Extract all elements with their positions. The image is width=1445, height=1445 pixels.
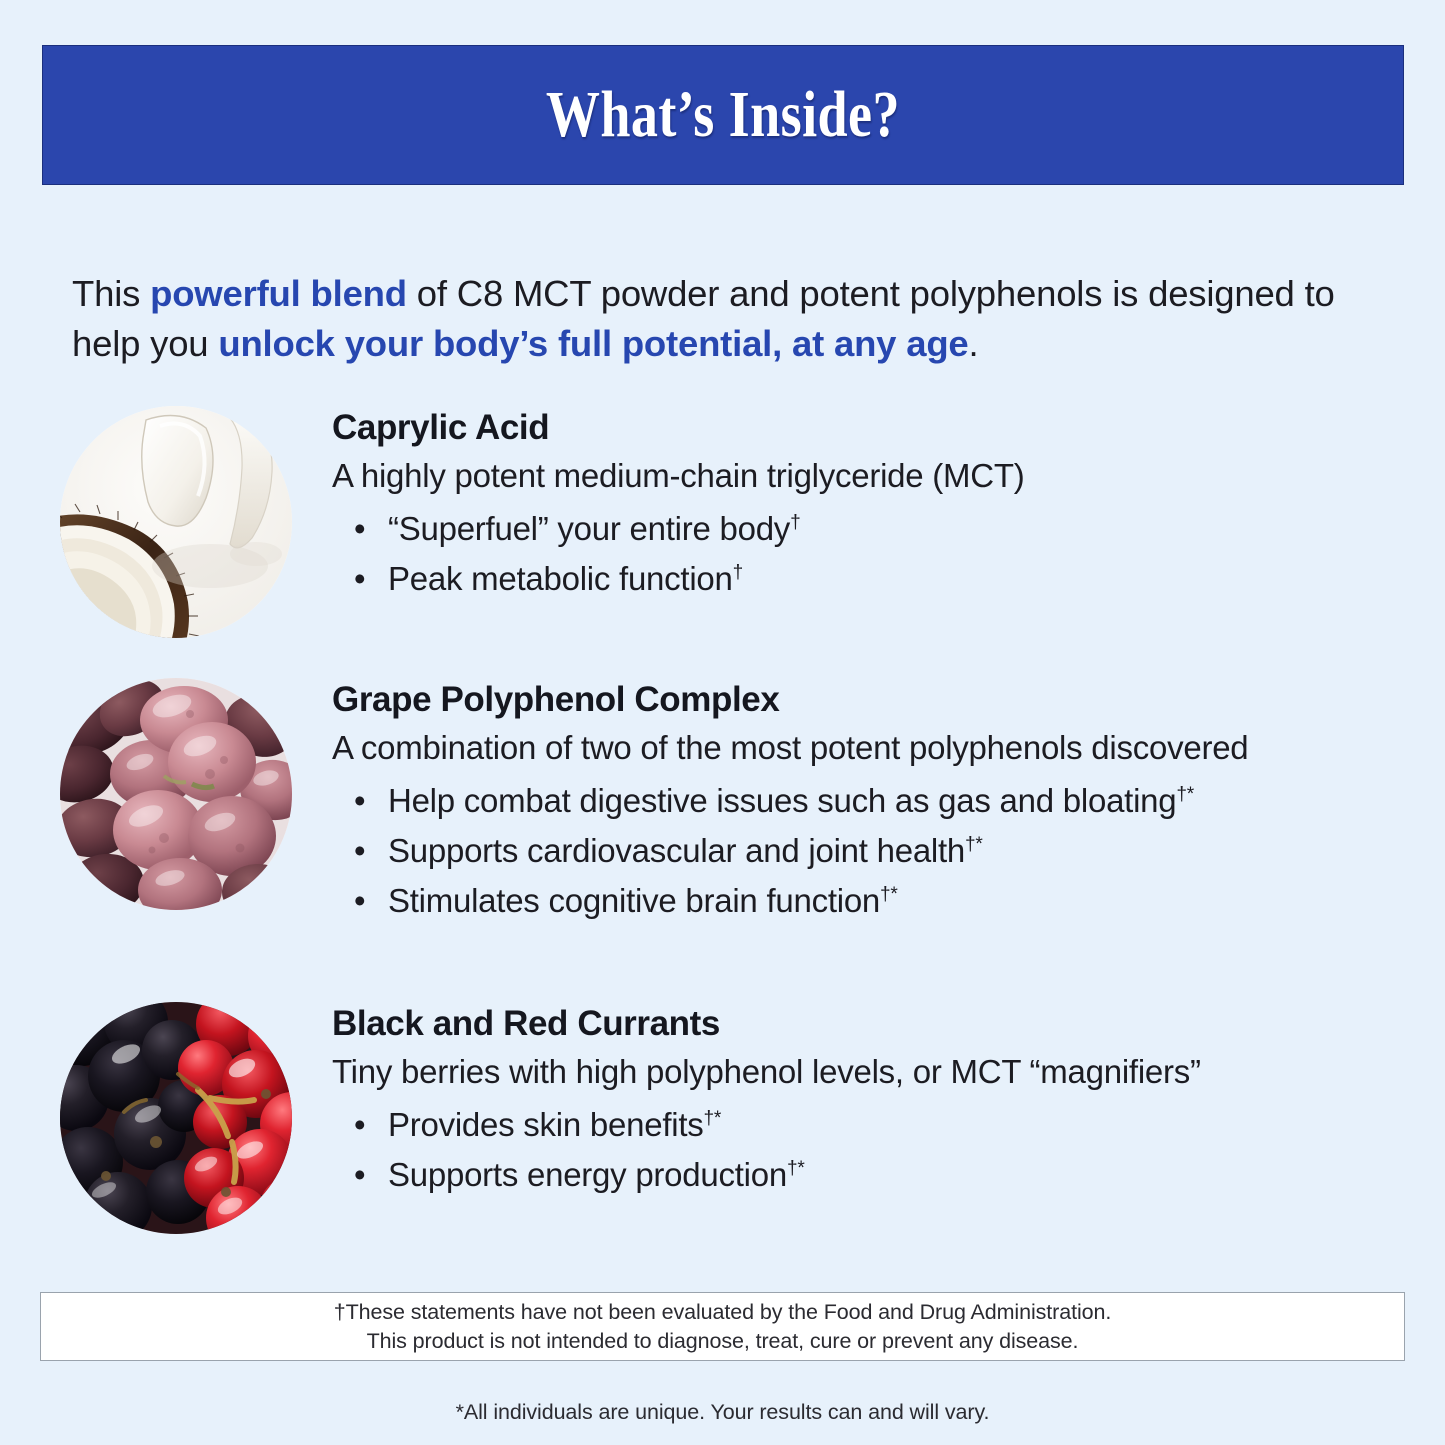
footnote-marker: †*: [704, 1108, 722, 1129]
list-item: •Supports cardiovascular and joint healt…: [332, 826, 1406, 876]
section-title: Caprylic Acid: [332, 406, 1406, 450]
bullet-icon: •: [354, 776, 365, 826]
footnote-marker: †: [733, 562, 743, 583]
intro-highlight-powerful-blend: powerful blend: [150, 273, 407, 314]
bullet-icon: •: [354, 1150, 365, 1200]
intro-text-part1: This: [72, 273, 150, 314]
list-item-label: Peak metabolic function: [388, 560, 733, 597]
section-body: Grape Polyphenol Complex A combination o…: [332, 678, 1406, 926]
footnote-marker: †*: [1176, 784, 1194, 805]
list-item: •“Superfuel” your entire body†: [332, 504, 1406, 554]
list-item-label: Stimulates cognitive brain function: [388, 882, 880, 919]
bullet-icon: •: [354, 554, 365, 604]
list-item-label: Help combat digestive issues such as gas…: [388, 782, 1176, 819]
section-title: Grape Polyphenol Complex: [332, 678, 1406, 722]
currants-photo: [60, 1002, 292, 1234]
section-title: Black and Red Currants: [332, 1002, 1406, 1046]
bullet-icon: •: [354, 504, 365, 554]
disclaimer-line-2: This product is not intended to diagnose…: [367, 1327, 1079, 1356]
list-item-label: Provides skin benefits: [388, 1106, 704, 1143]
page-title: What’s Inside?: [546, 77, 900, 153]
footnote-marker: †*: [787, 1158, 805, 1179]
intro-paragraph: This powerful blend of C8 MCT powder and…: [72, 269, 1372, 369]
fda-disclaimer-box: †These statements have not been evaluate…: [40, 1292, 1405, 1361]
list-item-label: “Superfuel” your entire body: [388, 510, 790, 547]
benefit-list: •Provides skin benefits†* •Supports ener…: [332, 1100, 1406, 1200]
list-item-label: Supports cardiovascular and joint health: [388, 832, 965, 869]
section-subtitle: A highly potent medium-chain triglycerid…: [332, 455, 1406, 497]
footnote-marker: †*: [880, 884, 898, 905]
grapes-photo: [60, 678, 292, 910]
bullet-icon: •: [354, 1100, 365, 1150]
section-body: Caprylic Acid A highly potent medium-cha…: [332, 406, 1406, 604]
ingredient-section-grape-polyphenol-complex: Grape Polyphenol Complex A combination o…: [56, 678, 1406, 926]
list-item-label: Supports energy production: [388, 1156, 787, 1193]
bullet-icon: •: [354, 826, 365, 876]
coconut-photo: [60, 406, 292, 638]
section-subtitle: A combination of two of the most potent …: [332, 727, 1406, 769]
disclaimer-line-1: †These statements have not been evaluate…: [334, 1298, 1111, 1327]
list-item: •Peak metabolic function†: [332, 554, 1406, 604]
header-banner: What’s Inside?: [42, 45, 1404, 185]
intro-text-part3: .: [969, 323, 979, 364]
intro-highlight-unlock-potential: unlock your body’s full potential, at an…: [218, 323, 968, 364]
footnote-marker: †: [790, 512, 800, 533]
ingredient-section-black-and-red-currants: Black and Red Currants Tiny berries with…: [56, 1002, 1406, 1200]
results-vary-note: *All individuals are unique. Your result…: [0, 1400, 1445, 1425]
list-item: •Help combat digestive issues such as ga…: [332, 776, 1406, 826]
footnote-marker: †*: [965, 834, 983, 855]
list-item: •Stimulates cognitive brain function†*: [332, 876, 1406, 926]
benefit-list: •Help combat digestive issues such as ga…: [332, 776, 1406, 926]
bullet-icon: •: [354, 876, 365, 926]
section-subtitle: Tiny berries with high polyphenol levels…: [332, 1051, 1406, 1093]
list-item: •Provides skin benefits†*: [332, 1100, 1406, 1150]
section-body: Black and Red Currants Tiny berries with…: [332, 1002, 1406, 1200]
list-item: •Supports energy production†*: [332, 1150, 1406, 1200]
ingredient-section-caprylic-acid: Caprylic Acid A highly potent medium-cha…: [56, 406, 1406, 604]
benefit-list: •“Superfuel” your entire body† •Peak met…: [332, 504, 1406, 604]
